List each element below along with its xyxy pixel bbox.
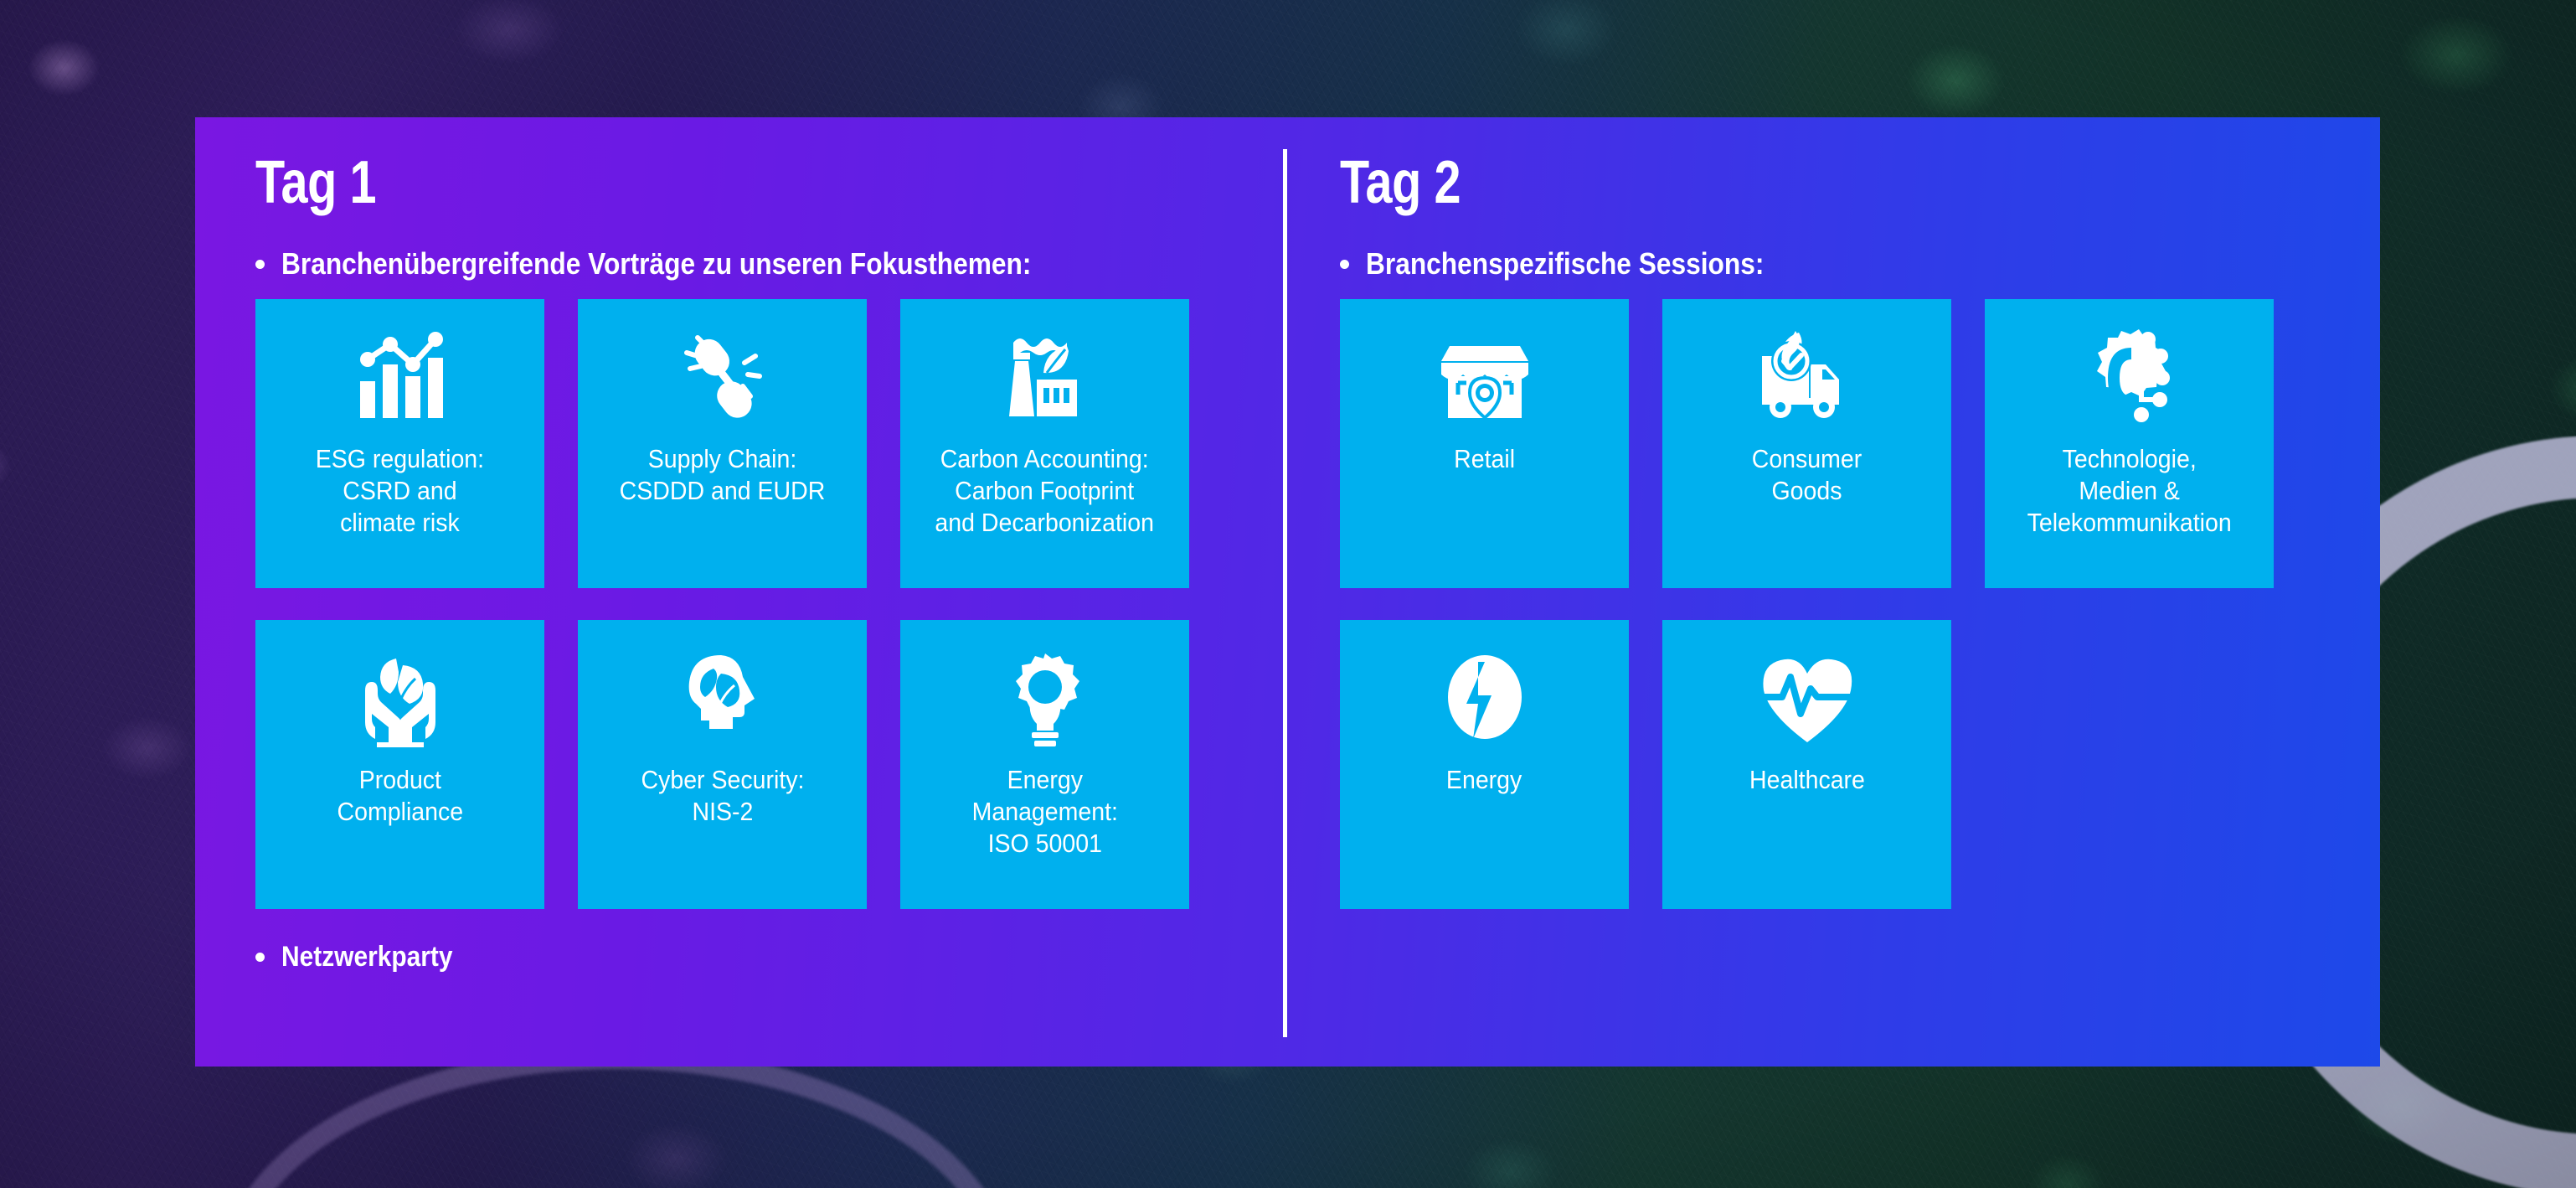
tile-label: Healthcare <box>1743 764 1871 796</box>
bullet-dot-icon <box>255 953 265 962</box>
broken-chain-icon <box>672 328 773 428</box>
tile-label: ProductCompliance <box>331 764 469 828</box>
bullet-dot-icon <box>255 260 265 269</box>
day1-bullet: Branchenübergreifende Vorträge zu unsere… <box>255 246 1283 281</box>
day1-bullet-label: Branchenübergreifende Vorträge zu unsere… <box>281 246 1031 281</box>
storefront-pin-icon <box>1435 328 1535 428</box>
tile-cyber-security[interactable]: Cyber Security:NIS-2 <box>578 620 867 909</box>
tile-label: Technologie,Medien &Telekommunikation <box>2021 443 2238 538</box>
tile-consumer-goods[interactable]: ConsumerGoods <box>1662 299 1951 588</box>
day1-footer-bullet: Netzwerkparty <box>255 941 1283 974</box>
head-leaf-icon <box>672 648 773 749</box>
tile-healthcare[interactable]: Healthcare <box>1662 620 1951 909</box>
lightning-circle-icon <box>1435 648 1535 749</box>
heart-pulse-icon <box>1757 648 1857 749</box>
tile-label: Supply Chain:CSDDD and EUDR <box>613 443 831 507</box>
tile-esg-regulation[interactable]: ESG regulation:CSRD andclimate risk <box>255 299 544 588</box>
day1-tile-row-1: ESG regulation:CSRD andclimate risk <box>255 299 1283 588</box>
bar-chart-trend-icon <box>350 328 451 428</box>
day1-column: Tag 1 Branchenübergreifende Vorträge zu … <box>195 117 1283 1067</box>
day1-footer-bullet-label: Netzwerkparty <box>281 941 453 974</box>
tile-label: Cyber Security:NIS-2 <box>635 764 811 828</box>
day2-bullet: Branchenspezifische Sessions: <box>1340 246 2380 281</box>
agenda-panel: Tag 1 Branchenübergreifende Vorträge zu … <box>195 117 2380 1067</box>
day2-bullet-label: Branchenspezifische Sessions: <box>1366 246 1764 281</box>
day2-title: Tag 2 <box>1340 152 2172 213</box>
day1-tile-row-2: ProductCompliance Cyber Security:NIS-2 <box>255 620 1283 909</box>
tile-label: ConsumerGoods <box>1745 443 1868 507</box>
tile-product-compliance[interactable]: ProductCompliance <box>255 620 544 909</box>
tile-retail[interactable]: Retail <box>1340 299 1629 588</box>
day1-title: Tag 1 <box>255 152 1078 213</box>
lightbulb-gear-icon <box>995 648 1095 749</box>
hands-leaf-icon <box>350 648 451 749</box>
tile-energy[interactable]: Energy <box>1340 620 1629 909</box>
tile-label: Carbon Accounting:Carbon Footprintand De… <box>929 443 1160 538</box>
tile-label: EnergyManagement:ISO 50001 <box>966 764 1124 859</box>
day2-tile-grid: Retail <box>1340 299 2380 909</box>
delivery-truck-clock-icon <box>1757 328 1857 428</box>
day2-tile-row-1: Retail <box>1340 299 2380 588</box>
tile-label: Retail <box>1448 443 1522 475</box>
day2-column: Tag 2 Branchenspezifische Sessions: <box>1283 117 2380 1067</box>
tile-energy-management[interactable]: EnergyManagement:ISO 50001 <box>900 620 1189 909</box>
tile-technologie-medien-telekommunikation[interactable]: Technologie,Medien &Telekommunikation <box>1985 299 2274 588</box>
tile-supply-chain[interactable]: Supply Chain:CSDDD and EUDR <box>578 299 867 588</box>
day2-tile-row-2: Energy Healthcare <box>1340 620 2380 909</box>
factory-leaf-icon <box>995 328 1095 428</box>
tile-carbon-accounting[interactable]: Carbon Accounting:Carbon Footprintand De… <box>900 299 1189 588</box>
day1-tile-grid: ESG regulation:CSRD andclimate risk <box>255 299 1283 909</box>
tile-label: ESG regulation:CSRD andclimate risk <box>309 443 490 538</box>
bullet-dot-icon <box>1340 260 1349 269</box>
tile-label: Energy <box>1440 764 1528 796</box>
gear-circuit-icon <box>2079 328 2180 428</box>
